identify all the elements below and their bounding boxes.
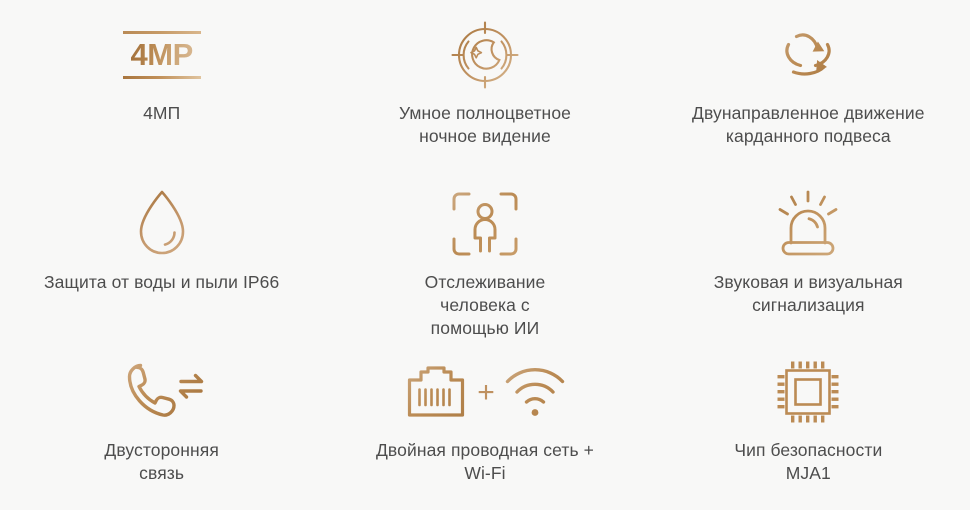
plus-icon: + — [477, 378, 495, 408]
feature-label-waterproof: Защита от воды и пыли IP66 — [44, 271, 279, 294]
phone-two-way-icon — [119, 355, 205, 429]
feature-label-ai-human-tracking: Отслеживание человека с помощью ИИ — [425, 271, 546, 340]
feature-label-alarm: Звуковая и визуальная сигнализация — [714, 271, 903, 317]
feature-card-security-chip: Чип безопасности MJA1 — [647, 341, 970, 510]
water-drop-icon — [131, 187, 193, 261]
feature-grid: 4MP 4МП — [0, 0, 970, 510]
ethernet-port-icon — [404, 363, 468, 421]
feature-label-security-chip: Чип безопасности MJA1 — [734, 439, 882, 485]
feature-label-night-vision: Умное полноцветное ночное видение — [399, 102, 571, 148]
feature-card-network: + — [323, 341, 646, 510]
badge-rule-bottom — [123, 76, 201, 79]
feature-label-two-way-talk: Двусторонняя связь — [104, 439, 219, 485]
feature-card-two-way-talk: Двусторонняя связь — [0, 341, 323, 510]
person-tracking-frame-icon — [448, 187, 522, 261]
feature-card-alarm: Звуковая и визуальная сигнализация — [647, 173, 970, 342]
feature-label-resolution: 4МП — [143, 102, 180, 125]
feature-card-ai-human-tracking: Отслеживание человека с помощью ИИ — [323, 173, 646, 342]
bidirectional-rotation-icon — [769, 18, 847, 92]
wifi-signal-icon — [504, 366, 566, 418]
siren-alarm-icon — [771, 187, 845, 261]
network-icon-group: + — [404, 355, 566, 429]
feature-label-gimbal-rotation: Двунаправленное движение карданного подв… — [692, 102, 925, 148]
feature-label-network: Двойная проводная сеть + Wi-Fi — [376, 439, 594, 485]
badge-text: 4MP — [131, 34, 193, 76]
microchip-icon — [773, 355, 843, 429]
feature-card-resolution: 4MP 4МП — [0, 4, 323, 173]
moon-crosshair-icon — [446, 18, 524, 92]
feature-card-night-vision: Умное полноцветное ночное видение — [323, 4, 646, 173]
feature-card-gimbal-rotation: Двунаправленное движение карданного подв… — [647, 4, 970, 173]
4mp-badge-icon: 4MP — [116, 18, 208, 92]
feature-card-waterproof: Защита от воды и пыли IP66 — [0, 173, 323, 342]
